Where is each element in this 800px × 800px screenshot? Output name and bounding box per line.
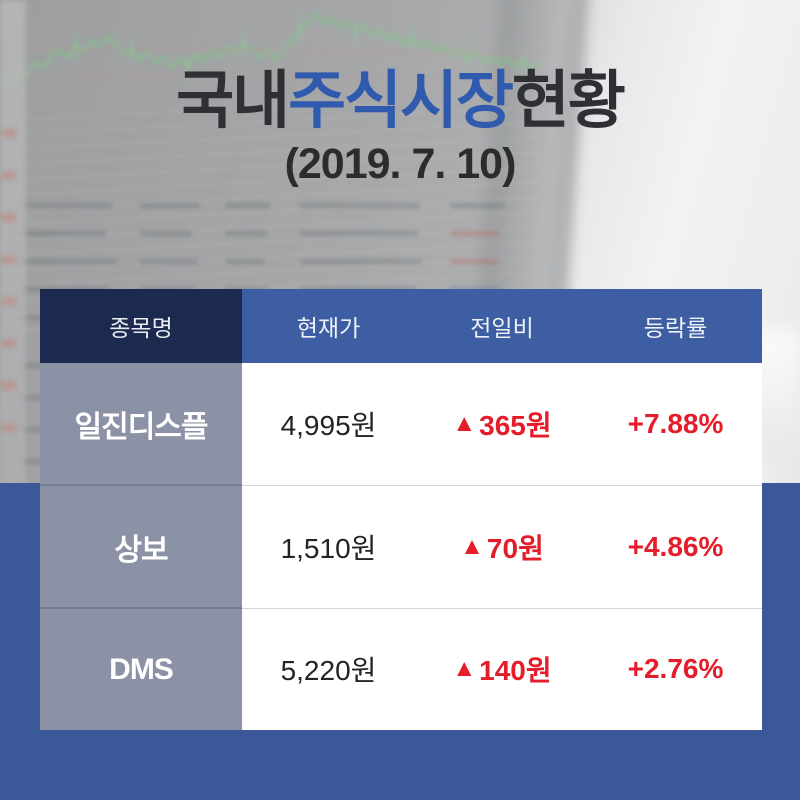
stock-name: 상보 <box>40 485 242 608</box>
stock-diff: ▲ 70원 <box>415 485 589 608</box>
up-arrow-icon: ▲ <box>452 657 476 681</box>
table-row: 일진디스플 4,995원 ▲ 365원 +7.88% <box>40 363 762 485</box>
stock-diff-value: 365원 <box>479 404 551 444</box>
table-row: DMS 5,220원 ▲ 140원 +2.76% <box>40 608 762 730</box>
table-row: 상보 1,510원 ▲ 70원 +4.86% <box>40 485 762 608</box>
column-header-name: 종목명 <box>40 289 242 363</box>
title-segment-domestic: 국내 <box>176 66 288 136</box>
stock-diff: ▲ 365원 <box>415 363 589 485</box>
table-header-row: 종목명 현재가 전일비 등락률 <box>40 289 762 363</box>
stock-diff-value: 70원 <box>487 527 544 567</box>
title-date: (2019. 7. 10) <box>0 143 800 186</box>
stock-price: 5,220원 <box>242 608 415 730</box>
stock-table: 종목명 현재가 전일비 등락률 일진디스플 4,995원 ▲ 365원 +7.8… <box>40 289 762 730</box>
column-header-rate: 등락률 <box>589 289 762 363</box>
stock-price: 1,510원 <box>242 485 415 608</box>
stock-rate: +7.88% <box>589 363 762 485</box>
title-block: 국내주식시장현황 (2019. 7. 10) <box>0 70 800 186</box>
stock-name: DMS <box>40 608 242 730</box>
stock-price: 4,995원 <box>242 363 415 485</box>
column-header-diff: 전일비 <box>415 289 589 363</box>
title-segment-status: 현황 <box>512 66 624 136</box>
stock-diff: ▲ 140원 <box>415 608 589 730</box>
page-title: 국내주식시장현황 <box>0 70 800 133</box>
stock-rate: +2.76% <box>589 608 762 730</box>
up-arrow-icon: ▲ <box>452 412 476 436</box>
up-arrow-icon: ▲ <box>460 535 484 559</box>
title-segment-stockmarket: 주식시장 <box>288 66 512 136</box>
stock-diff-value: 140원 <box>479 649 551 689</box>
stock-name: 일진디스플 <box>40 363 242 485</box>
stock-rate: +4.86% <box>589 485 762 608</box>
screenshot-root: 국내주식시장현황 (2019. 7. 10) 종목명 현재가 전일비 등락률 일… <box>0 0 800 800</box>
column-header-price: 현재가 <box>242 289 415 363</box>
